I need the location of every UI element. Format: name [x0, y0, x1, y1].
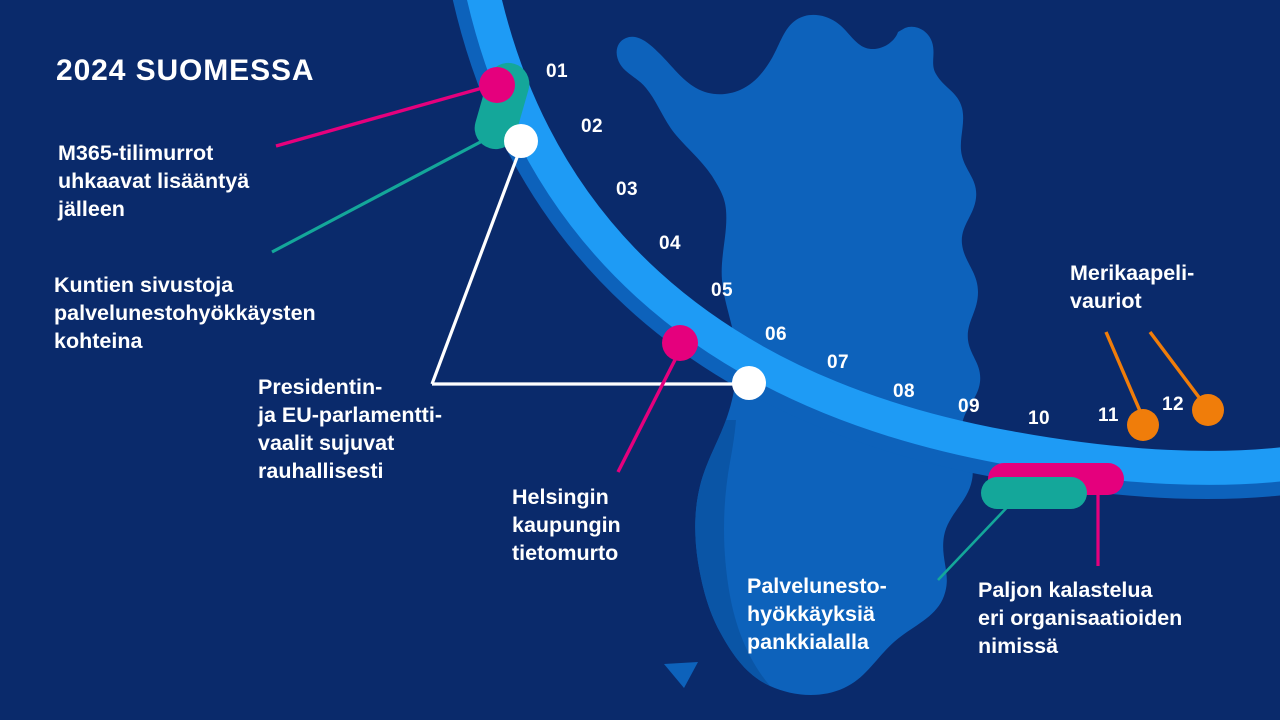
marker-magenta-circle-helsinki	[662, 325, 698, 361]
callout-kunnat: Kuntien sivustoja palvelunestohyökkäyste…	[54, 272, 316, 356]
month-label-04: 04	[659, 233, 681, 255]
month-label-11: 11	[1098, 405, 1119, 427]
page-title: 2024 SUOMESSA	[56, 54, 314, 88]
month-label-09: 09	[958, 396, 980, 418]
callout-helsinki: Helsingin kaupungin tietomurto	[512, 484, 621, 568]
month-label-06: 06	[765, 324, 787, 346]
callout-merikaapeli: Merikaapeli- vauriot	[1070, 260, 1194, 316]
callout-vaalit: Presidentin- ja EU-parlamentti- vaalit s…	[258, 374, 442, 486]
month-label-02: 02	[581, 116, 603, 138]
callout-pankit: Palvelunesto- hyökkäyksiä pankkialalla	[747, 573, 887, 657]
marker-orange-circle-11	[1127, 409, 1159, 441]
month-label-07: 07	[827, 352, 849, 374]
callout-m365: M365-tilimurrot uhkaavat lisääntyä jälle…	[58, 140, 249, 224]
month-label-03: 03	[616, 179, 638, 201]
month-label-05: 05	[711, 280, 733, 302]
marker-white-circle-top	[504, 124, 538, 158]
marker-teal-capsule-bottom	[981, 477, 1087, 509]
month-label-10: 10	[1028, 408, 1050, 430]
infographic-canvas: 2024 SUOMESSA M365-tilimurrot uhkaavat l…	[0, 0, 1280, 720]
callout-kalastelu: Paljon kalastelua eri organisaatioiden n…	[978, 577, 1182, 661]
month-label-08: 08	[893, 381, 915, 403]
month-label-12: 12	[1162, 394, 1184, 416]
marker-orange-circle-12	[1192, 394, 1224, 426]
marker-magenta-circle-top	[479, 67, 515, 103]
marker-white-circle-vaalit	[732, 366, 766, 400]
month-label-01: 01	[546, 61, 568, 83]
